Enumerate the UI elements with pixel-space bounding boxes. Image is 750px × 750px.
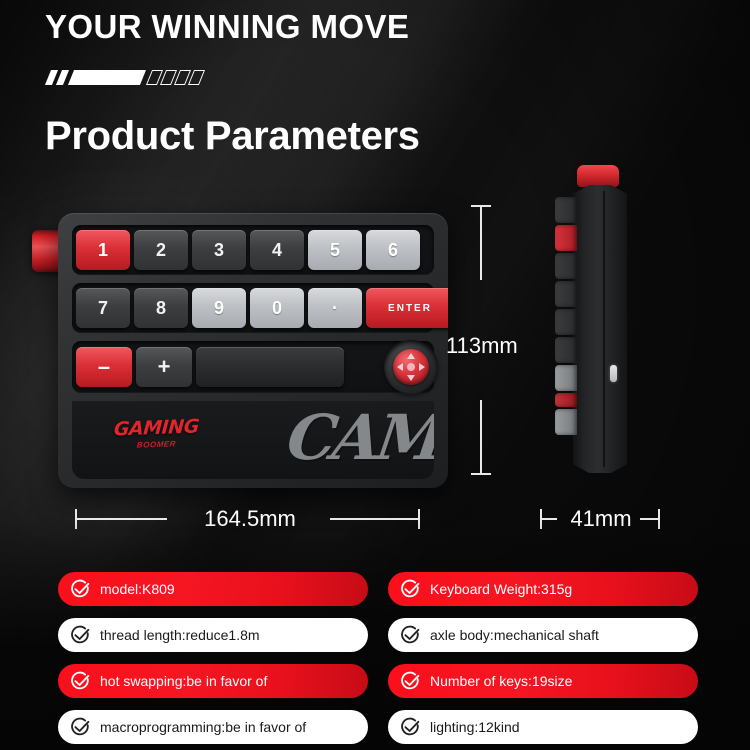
brand-subtitle: BOOMER	[114, 439, 200, 451]
decorative-slash-bar	[44, 68, 204, 88]
key-9[interactable]: 9	[192, 288, 246, 328]
spec-pill-hot-swapping[interactable]: hot swapping:be in favor of	[58, 664, 368, 698]
spec-pill-macroprogramming[interactable]: macroprogramming:be in favor of	[58, 710, 368, 744]
keyboard-top-view: 1 2 3 4 5 6 7 8 9 0 · ENTER – +	[30, 205, 450, 495]
arrow-up-icon	[407, 353, 415, 359]
brand-name: GAMING	[113, 416, 200, 441]
key-minus[interactable]: –	[76, 347, 132, 387]
arrow-right-icon	[419, 363, 425, 371]
side-keycap-profile	[555, 309, 577, 335]
brand-logo: GAMING BOOMER	[114, 417, 199, 449]
key-period[interactable]: ·	[308, 288, 362, 328]
check-circle-icon	[70, 625, 91, 646]
key-6[interactable]: 6	[366, 230, 420, 270]
check-circle-icon	[70, 671, 91, 692]
keyboard-body: 1 2 3 4 5 6 7 8 9 0 · ENTER – +	[58, 213, 448, 488]
spec-label: axle body:mechanical shaft	[430, 628, 599, 642]
check-circle-icon	[70, 717, 91, 738]
side-keycap-profile-red	[555, 393, 577, 407]
check-circle-icon	[70, 579, 91, 600]
page-title: Product Parameters	[45, 114, 420, 159]
check-circle-icon	[400, 625, 421, 646]
spec-label: model:K809	[100, 582, 175, 596]
keyboard-side-view	[555, 165, 665, 495]
side-keycap-profile	[555, 281, 577, 307]
dpad-center-dot	[407, 363, 415, 371]
key-7[interactable]: 7	[76, 288, 130, 328]
spec-pill-axle-body[interactable]: axle body:mechanical shaft	[388, 618, 698, 652]
directional-pad[interactable]	[393, 349, 429, 385]
side-keycap-profile	[555, 253, 577, 279]
side-body	[573, 185, 627, 473]
key-3[interactable]: 3	[192, 230, 246, 270]
side-seam-line	[603, 191, 605, 467]
spec-pill-weight[interactable]: Keyboard Weight:315g	[388, 572, 698, 606]
key-enter[interactable]: ENTER	[366, 288, 448, 328]
side-keycap-profile-red	[555, 225, 577, 251]
key-plus[interactable]: +	[136, 347, 192, 387]
check-circle-icon	[400, 717, 421, 738]
side-keycap-profile-light	[555, 409, 577, 435]
page-headline: YOUR WINNING MOVE	[45, 8, 409, 46]
key-4[interactable]: 4	[250, 230, 304, 270]
side-keycap-profile	[555, 337, 577, 363]
spec-pill-thread-length[interactable]: thread length:reduce1.8m	[58, 618, 368, 652]
spec-label: Keyboard Weight:315g	[430, 582, 572, 596]
key-5[interactable]: 5	[308, 230, 362, 270]
spec-pill-model[interactable]: model:K809	[58, 572, 368, 606]
spec-pill-lighting[interactable]: lighting:12kind	[388, 710, 698, 744]
arrow-down-icon	[407, 375, 415, 381]
spec-label: macroprogramming:be in favor of	[100, 720, 306, 734]
side-keycap-profile-light	[555, 365, 577, 391]
keyboard-row-2: 7 8 9 0 · ENTER	[72, 283, 434, 333]
arrow-left-icon	[397, 363, 403, 371]
key-space[interactable]	[196, 347, 344, 387]
check-circle-icon	[400, 671, 421, 692]
graffiti-artwork: CAM	[284, 407, 434, 469]
spec-label: hot swapping:be in favor of	[100, 674, 267, 688]
dimension-height-label: 113mm	[446, 333, 518, 359]
spec-label: Number of keys:19size	[430, 674, 572, 688]
spec-label: thread length:reduce1.8m	[100, 628, 260, 642]
product-parameters-page: YOUR WINNING MOVE Product Parameters 1 2…	[0, 0, 750, 750]
spec-pill-number-of-keys[interactable]: Number of keys:19size	[388, 664, 698, 698]
spec-label: lighting:12kind	[430, 720, 520, 734]
key-8[interactable]: 8	[134, 288, 188, 328]
keyboard-row-1: 1 2 3 4 5 6	[72, 225, 434, 275]
directional-pad-socket	[384, 340, 438, 394]
key-1[interactable]: 1	[76, 230, 130, 270]
side-volume-knob	[577, 165, 619, 187]
key-0[interactable]: 0	[250, 288, 304, 328]
key-2[interactable]: 2	[134, 230, 188, 270]
side-keycap-profile	[555, 197, 577, 223]
keyboard-row-3: – +	[72, 341, 434, 393]
keyboard-deck: CAM GAMING BOOMER	[72, 401, 434, 479]
usb-port	[610, 365, 617, 382]
spec-list: model:K809 Keyboard Weight:315g thread l…	[58, 572, 698, 744]
check-circle-icon	[400, 579, 421, 600]
